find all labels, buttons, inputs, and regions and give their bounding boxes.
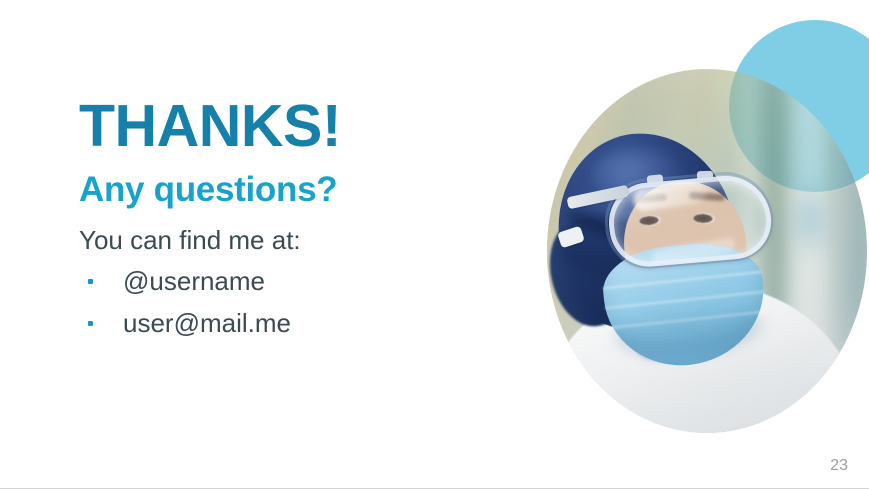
background-light-spot [797, 189, 823, 249]
contact-email: user@mail.me [123, 308, 291, 338]
contact-username: @username [123, 266, 265, 296]
bullet-icon [88, 279, 93, 284]
page-title: THANKS! [79, 98, 509, 156]
list-item: user@mail.me [79, 310, 509, 336]
background-panel [847, 89, 867, 389]
slide-canvas: THANKS! Any questions? You can find me a… [0, 0, 869, 489]
bullet-icon [88, 321, 93, 326]
photo-background [547, 69, 867, 433]
goggles-vent [647, 174, 664, 185]
goggles-vent [697, 171, 713, 181]
mask-pleat [603, 271, 762, 290]
list-item: @username [79, 268, 509, 294]
mask-ear-loop [547, 97, 573, 167]
healthcare-worker-photo [547, 69, 867, 433]
contact-list: @username user@mail.me [79, 268, 509, 336]
page-number: 23 [830, 457, 848, 475]
text-content-block: THANKS! Any questions? You can find me a… [79, 98, 509, 352]
find-me-label: You can find me at: [79, 226, 509, 255]
page-subtitle: Any questions? [79, 172, 509, 207]
